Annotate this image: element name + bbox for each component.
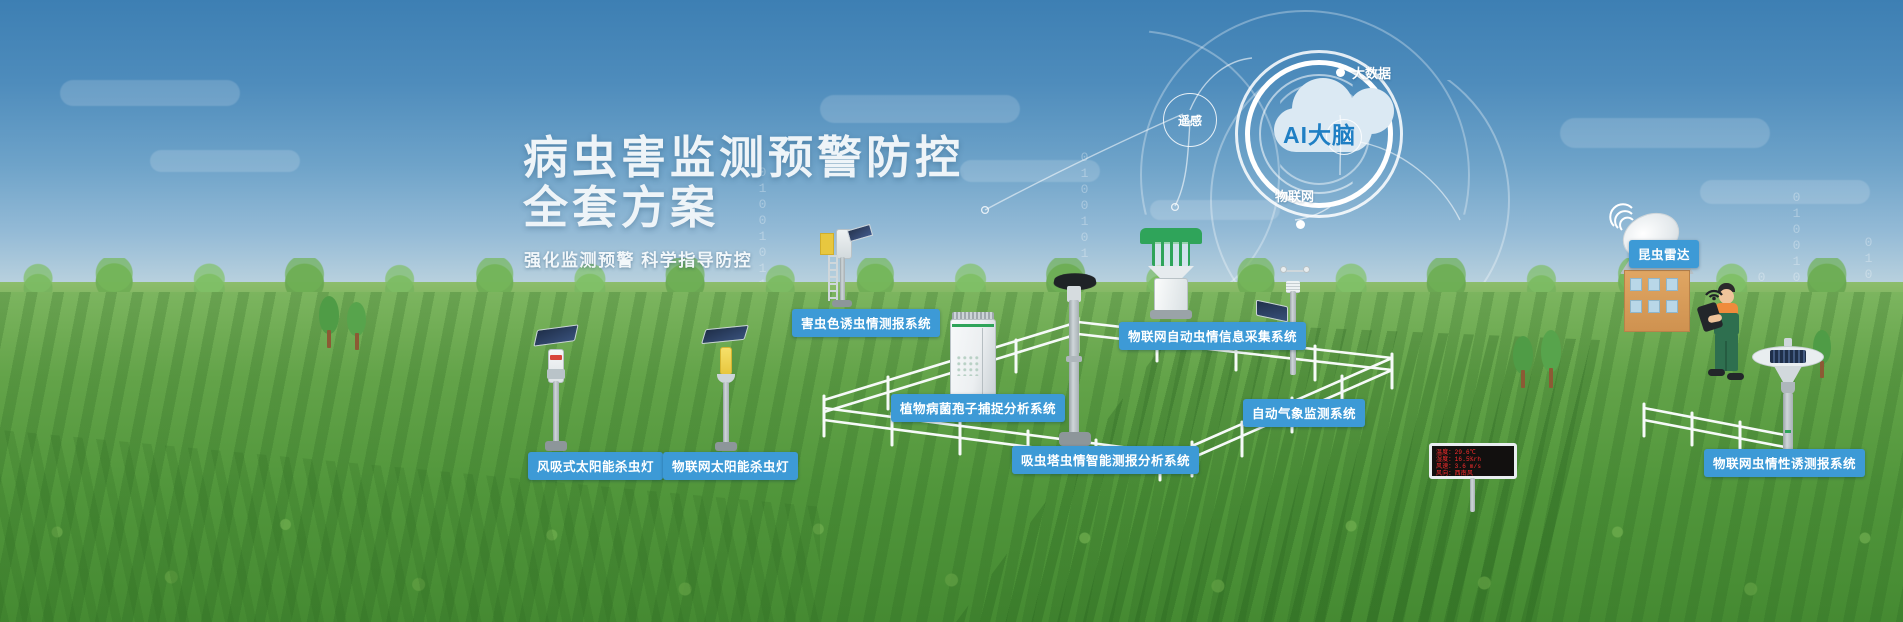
cloud-shape — [60, 80, 240, 106]
hub-node-label-big-data[interactable]: 大数据 — [1352, 63, 1391, 82]
device-label-iot-solar-insect-lamp[interactable]: 物联网太阳能杀虫灯 — [663, 452, 798, 480]
building-window — [1630, 300, 1642, 313]
building-window — [1666, 278, 1678, 291]
trap-yellow-board — [820, 233, 834, 255]
device-label-iot-pest-pheromone-trap-reporting-system[interactable]: 物联网虫情性诱测报系统 — [1704, 449, 1865, 477]
device-label-plant-pathogen-spore-capture-analysis-system[interactable]: 植物病菌孢子捕捉分析系统 — [891, 394, 1065, 422]
spore-green-stripe — [952, 324, 994, 327]
spore-vent — [957, 356, 979, 376]
device-label-pest-color-trap-reporting-system[interactable]: 害虫色诱虫情测报系统 — [792, 309, 940, 337]
tree — [1510, 336, 1536, 388]
worker-shoe — [1727, 373, 1744, 380]
pheromone-solar-cells — [1770, 350, 1806, 363]
tree — [316, 296, 342, 348]
trap-base — [832, 300, 852, 307]
lamp-pole — [723, 382, 729, 444]
tower-base — [1059, 432, 1091, 446]
device-label-wind-suction-solar-insect-lamp[interactable]: 风吸式太阳能杀虫灯 — [528, 452, 663, 480]
led-weather-display[interactable]: 温度：29.6℃ 湿度：16.5%rh 风速：3.6 m/s 风向：西南风 — [1429, 443, 1517, 513]
device-pest-color-trap-reporting-system[interactable] — [806, 225, 876, 310]
illustration-canvas: 010010110100101 0100101 0100101101011010… — [0, 0, 1903, 622]
lamp-fan — [547, 369, 565, 379]
hub-node-label-iot[interactable]: 物联网 — [1275, 186, 1314, 205]
tower-pole — [1069, 300, 1079, 436]
hub-node-label: 遥感 — [1178, 112, 1202, 129]
collector-body — [1154, 278, 1188, 312]
ai-hub: AI大脑 遥感 大数据 5G 物联网 — [1040, 20, 1460, 240]
device-label-suction-tower-intelligent-pest-analysis-system[interactable]: 吸虫塔虫情智能测报分析系统 — [1012, 446, 1199, 474]
led-screen: 温度：29.6℃ 湿度：16.5%rh 风速：3.6 m/s 风向：西南风 — [1429, 443, 1517, 479]
lamp-tube — [720, 347, 732, 375]
lamp-base — [545, 441, 567, 451]
ai-brain-label: AI大脑 — [1283, 116, 1356, 150]
hero-title-line-2: 全套方案 — [523, 183, 964, 233]
building-window — [1648, 300, 1660, 313]
hero-title: 病虫害监测预警防控 全套方案 — [523, 133, 964, 233]
solar-panel — [701, 325, 749, 344]
collector-base — [1150, 310, 1192, 319]
cloud-shape — [1560, 118, 1770, 148]
device-wind-suction-solar-insect-lamp[interactable] — [530, 325, 590, 455]
hub-connectors — [1040, 20, 1460, 240]
hub-node-remote-sensing[interactable]: 遥感 — [1163, 93, 1217, 147]
hub-node-dot-big-data — [1336, 68, 1345, 77]
pheromone-pole-mark — [1785, 430, 1791, 433]
device-label-iot-automatic-pest-info-collection-system[interactable]: 物联网自动虫情信息采集系统 — [1119, 322, 1306, 350]
tree — [344, 302, 370, 350]
building-window — [1666, 300, 1678, 313]
weather-solar-panel — [1256, 300, 1288, 323]
led-row: 风向：西南风 — [1436, 470, 1510, 477]
tree — [1538, 330, 1564, 388]
spore-door-seam — [982, 328, 983, 394]
led-board-pole — [1470, 478, 1475, 512]
device-plant-pathogen-spore-capture-analysis-system[interactable] — [946, 312, 1002, 400]
field-worker — [1700, 283, 1754, 383]
device-iot-automatic-pest-info-collection-system[interactable] — [1136, 228, 1208, 322]
radar-wave-icon — [1610, 204, 1638, 232]
trap-pole — [840, 257, 845, 301]
device-suction-tower-intelligent-pest-analysis-system[interactable] — [1052, 272, 1098, 452]
cloud-shape — [150, 150, 300, 172]
wifi-icon — [1704, 281, 1726, 299]
led-row: 温度：29.6℃ — [1436, 449, 1510, 456]
hero-title-line-1: 病虫害监测预警防控 — [523, 133, 964, 183]
trap-ladder — [828, 255, 838, 301]
weather-anemometer — [1282, 265, 1308, 279]
building-window — [1648, 278, 1660, 291]
solar-panel — [533, 324, 578, 346]
device-iot-solar-insect-lamp[interactable] — [700, 325, 760, 455]
hub-node-dot-iot — [1296, 220, 1305, 229]
lamp-base — [715, 442, 737, 451]
worker-shoe — [1708, 369, 1725, 376]
lamp-pole — [553, 381, 559, 443]
building-window — [1630, 278, 1642, 291]
led-row: 风速：3.6 m/s — [1436, 463, 1510, 470]
worker-leg-split — [1725, 341, 1727, 371]
cloud-shape — [820, 95, 1020, 123]
device-label-automatic-weather-monitoring-system[interactable]: 自动气象监测系统 — [1243, 399, 1365, 427]
hero-subtitle: 强化监测预警 科学指导防控 — [524, 246, 752, 271]
collector-lamp-cage — [1152, 242, 1190, 266]
led-row: 湿度：16.5%rh — [1436, 456, 1510, 463]
tower-collar — [1066, 356, 1082, 362]
lamp-indicator — [550, 355, 562, 360]
device-label-insect-radar[interactable]: 昆虫雷达 — [1629, 240, 1699, 268]
